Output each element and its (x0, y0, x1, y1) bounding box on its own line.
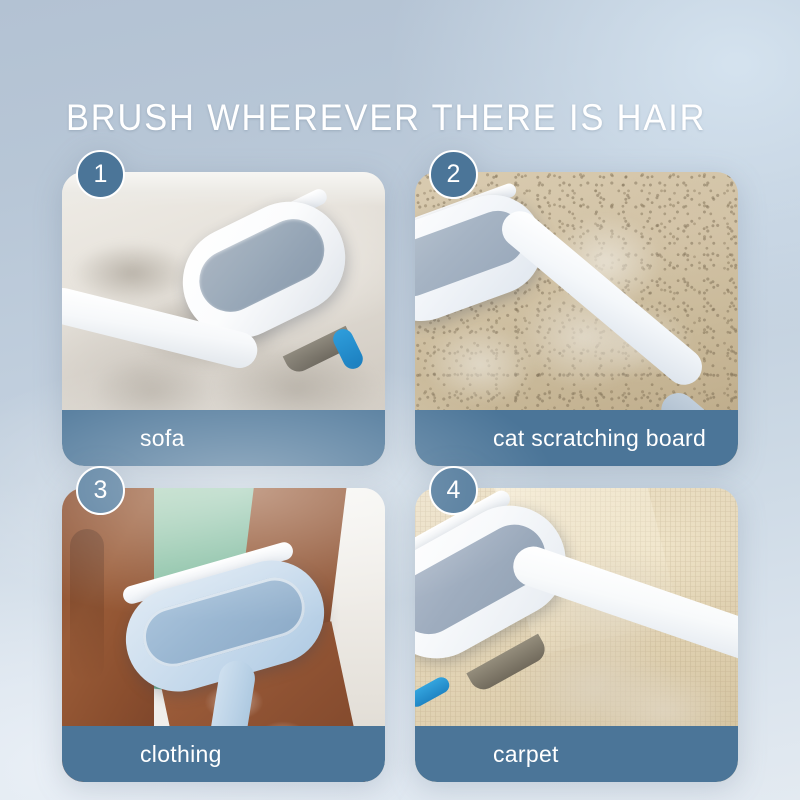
card-label-text: cat scratching board (493, 425, 706, 452)
card-label-text: clothing (140, 741, 222, 768)
use-case-card-clothing[interactable]: clothing 3 (62, 488, 385, 782)
card-clip: cat scratching board (415, 172, 738, 466)
use-case-card-sofa[interactable]: sofa 1 (62, 172, 385, 466)
card-clip: sofa (62, 172, 385, 466)
card-label-text: sofa (140, 425, 185, 452)
card-label-bar: sofa (62, 410, 385, 466)
card-number-badge: 2 (429, 150, 478, 199)
card-label-text: carpet (493, 741, 559, 768)
card-number-badge: 1 (76, 150, 125, 199)
product-infographic-poster: BRUSH WHEREVER THERE IS HAIR (0, 0, 800, 800)
card-label-bar: clothing (62, 726, 385, 782)
card-label-bar: carpet (415, 726, 738, 782)
card-label-bar: cat scratching board (415, 410, 738, 466)
card-number-badge: 4 (429, 466, 478, 515)
hair-wisp (420, 322, 540, 407)
card-clip: clothing (62, 488, 385, 782)
use-case-card-cat-scratching-board[interactable]: cat scratching board 2 (415, 172, 738, 466)
use-case-card-carpet[interactable]: carpet 4 (415, 488, 738, 782)
page-title: BRUSH WHEREVER THERE IS HAIR (66, 96, 708, 140)
card-clip: carpet (415, 488, 738, 782)
card-number-badge: 3 (76, 466, 125, 515)
use-case-grid: sofa 1 (62, 172, 738, 782)
